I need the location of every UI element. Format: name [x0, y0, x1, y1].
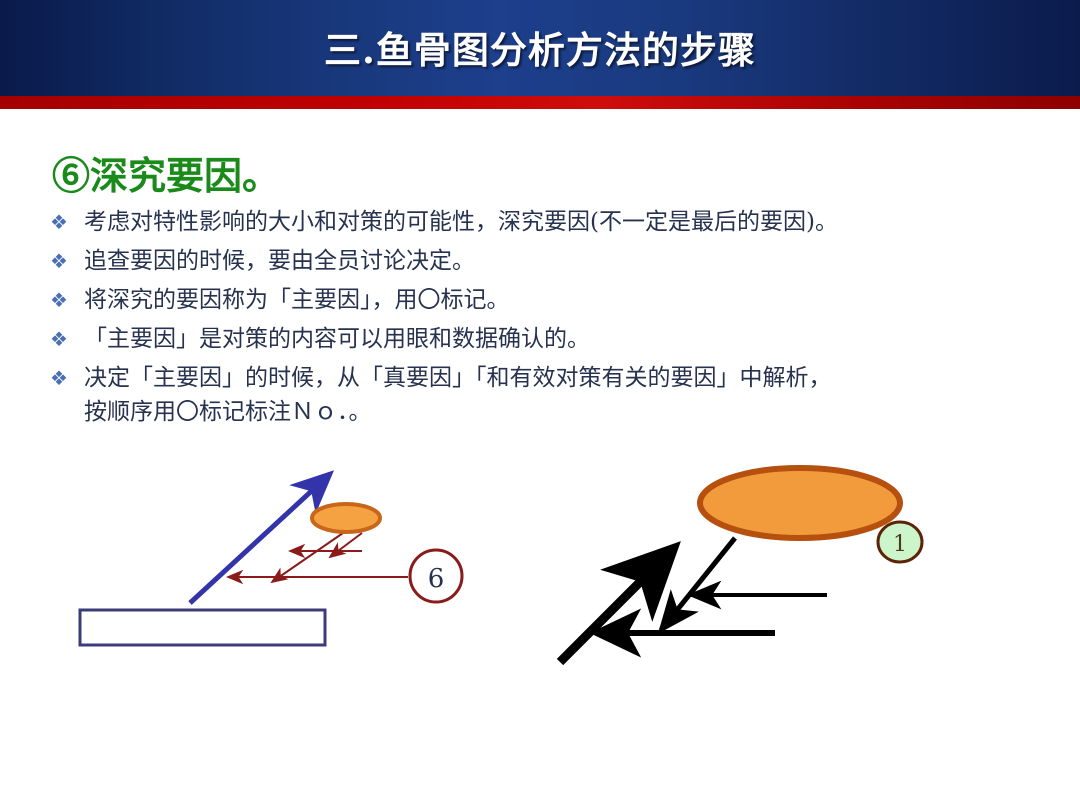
section-heading: ⑥深究要因。	[52, 145, 280, 200]
left-highlight-ellipse	[312, 504, 380, 532]
diamond-bullet-icon: ❖	[44, 244, 84, 278]
list-item-text: 将深究的要因称为「主要因」，用〇标记。	[84, 283, 1044, 317]
list-item: ❖ 将深究的要因称为「主要因」，用〇标记。	[44, 283, 1044, 317]
right-fishbone-diagram: 1	[560, 468, 922, 662]
diamond-bullet-icon: ❖	[44, 361, 84, 395]
diamond-bullet-icon: ❖	[44, 322, 84, 356]
left-fishbone-diagram: 6	[80, 474, 462, 645]
list-item: ❖ 「主要因」是对策的内容可以用眼和数据确认的。	[44, 322, 1044, 356]
right-highlight-ellipse	[700, 468, 900, 538]
page-title: 三.鱼骨图分析方法的步骤	[0, 20, 1080, 74]
left-characteristic-box	[80, 610, 325, 645]
diamond-bullet-icon: ❖	[44, 283, 84, 317]
list-item: ❖ 追查要因的时候，要由全员讨论决定。	[44, 244, 1044, 278]
diamond-bullet-icon: ❖	[44, 205, 84, 239]
diagram-area: 6 1	[0, 440, 1080, 720]
right-spine-arrow	[560, 550, 672, 662]
left-spine-arrow	[190, 474, 330, 603]
left-sub-bone-arrow-diagonal	[272, 533, 343, 582]
right-order-marker-label: 1	[893, 532, 907, 557]
list-item: ❖ 决定「主要因」的时候，从「真要因」「和有效对策有关的要因」中解析， 按顺序用…	[44, 361, 1044, 429]
bullet-list: ❖ 考虑对特性影响的大小和对策的可能性，深究要因(不一定是最后的要因)。 ❖ 追…	[44, 205, 1044, 434]
list-item-text: 追查要因的时候，要由全员讨论决定。	[84, 244, 1044, 278]
list-item-text: 考虑对特性影响的大小和对策的可能性，深究要因(不一定是最后的要因)。	[84, 205, 1044, 239]
list-item-text: 决定「主要因」的时候，从「真要因」「和有效对策有关的要因」中解析， 按顺序用〇标…	[84, 361, 1044, 429]
left-order-marker-label: 6	[428, 564, 445, 594]
title-banner: 三.鱼骨图分析方法的步骤	[0, 0, 1080, 96]
list-item-text: 「主要因」是对策的内容可以用眼和数据确认的。	[84, 322, 1044, 356]
header-divider-rule	[0, 96, 1080, 109]
list-item: ❖ 考虑对特性影响的大小和对策的可能性，深究要因(不一定是最后的要因)。	[44, 205, 1044, 239]
left-twig-bone-arrow	[330, 533, 362, 557]
fishbone-illustrations: 6 1	[0, 440, 1080, 720]
